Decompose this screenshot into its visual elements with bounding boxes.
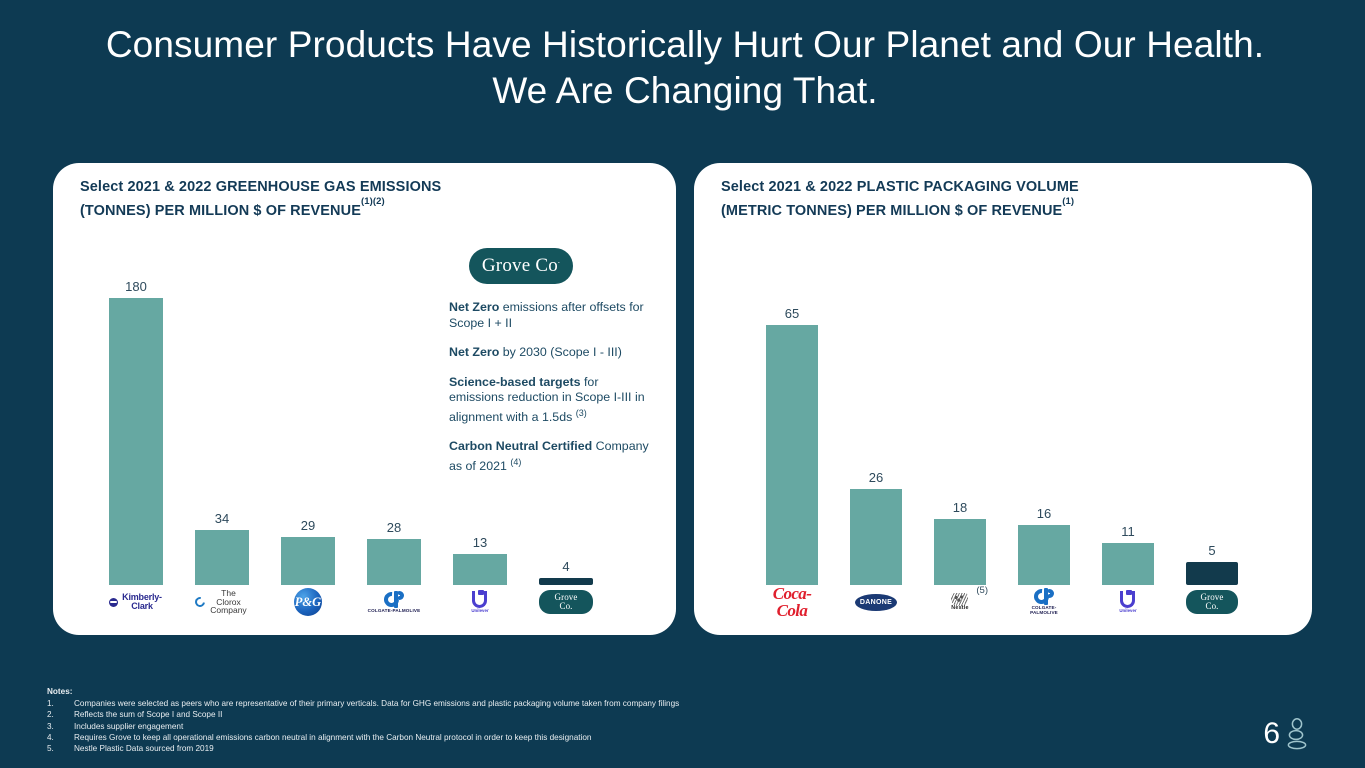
bar: [539, 578, 593, 585]
note-text: Nestle Plastic Data sourced from 2019: [74, 743, 214, 754]
unilever-mark: [472, 591, 487, 608]
commitment-footnote: (3): [576, 408, 587, 418]
bar-group: 11Unilever: [1102, 173, 1154, 613]
nestle-logo: Nestle: [951, 593, 968, 611]
clorox-mark: [193, 595, 207, 609]
colgate-palmolive-logo: COLGATE-PALMOLIVE: [368, 591, 421, 614]
bar-value-label: 13: [453, 535, 507, 550]
commitment-label: Carbon Neutral Certified: [449, 439, 592, 453]
bar-category-logo: Unilever: [453, 589, 507, 615]
danone-logo: DANONE: [855, 594, 897, 611]
grove-commitments-list: Net Zero emissions after offsets for Sco…: [449, 300, 654, 474]
bar-category-logo: COLGATE-PALMOLIVE: [367, 589, 421, 615]
note-text: Includes supplier engagement: [74, 721, 183, 732]
bar-value-label: 5: [1186, 543, 1238, 558]
commitment-item: Net Zero by 2030 (Scope I - III): [449, 345, 654, 361]
commitment-label: Science-based targets: [449, 375, 581, 389]
commitment-item: Science-based targets for emissions redu…: [449, 375, 654, 426]
unilever-logo: Unilever: [471, 591, 488, 613]
nestle-mark: [951, 593, 968, 606]
bar-category-logo: P&G: [281, 589, 335, 615]
bar-group: 34The Clorox Company: [195, 173, 249, 613]
bar-category-logo: COLGATE-PALMOLIVE: [1018, 589, 1070, 615]
commitment-footnote: (4): [510, 457, 521, 467]
coca-cola-logo: Coca-Cola: [766, 585, 818, 619]
notes-block: Notes: 1.Companies were selected as peer…: [47, 686, 947, 754]
commitment-text: by 2030 (Scope I - III): [499, 345, 622, 359]
bar-value-label: 34: [195, 511, 249, 526]
note-number: 3.: [47, 721, 74, 732]
bar: [850, 489, 902, 585]
bar: [934, 519, 986, 585]
bar-group: 16COLGATE-PALMOLIVE: [1018, 173, 1070, 613]
bar-group: 28COLGATE-PALMOLIVE: [367, 173, 421, 613]
bar-category-logo: DANONE: [850, 589, 902, 615]
plastic-packaging-chart: 65Coca-Cola26DANONE18(5)Nestle16COLGATE-…: [694, 173, 1312, 613]
colgate-palmolive-logo: COLGATE-PALMOLIVE: [1018, 588, 1070, 615]
kimberly-clark-mark: [109, 598, 118, 607]
pg-logo: P&G: [294, 588, 322, 616]
note-item: 2.Reflects the sum of Scope I and Scope …: [47, 709, 947, 720]
bar-group: 29P&G: [281, 173, 335, 613]
bar: [1018, 525, 1070, 585]
bar-group: 18(5)Nestle: [934, 173, 986, 613]
bar: [195, 530, 249, 585]
bar: [367, 539, 421, 585]
grove-co-logo-badge: Grove Co.: [469, 248, 573, 284]
colgate-palmolive-mark: [384, 591, 405, 608]
bar-value-label: 65: [766, 306, 818, 321]
note-text: Reflects the sum of Scope I and Scope II: [74, 709, 222, 720]
clorox-logo: The Clorox Company: [195, 589, 249, 615]
bar-group: 5Grove Co.: [1186, 173, 1238, 613]
note-number: 1.: [47, 698, 74, 709]
bar-group: 65Coca-Cola: [766, 173, 818, 613]
note-number: 2.: [47, 709, 74, 720]
notes-list: 1.Companies were selected as peers who a…: [47, 698, 947, 754]
bar-value-label: 28: [367, 520, 421, 535]
page-number: 6: [1263, 719, 1280, 749]
grove-stones-icon: [1286, 717, 1308, 751]
bar-category-logo: The Clorox Company: [195, 589, 249, 615]
commitment-item: Carbon Neutral Certified Company as of 2…: [449, 439, 654, 474]
bar-value-label: 29: [281, 518, 335, 533]
bar-category-logo: Nestle: [934, 589, 986, 615]
bar: [109, 298, 163, 585]
slide: Consumer Products Have Historically Hurt…: [0, 0, 1365, 768]
bar-value-label: 11: [1102, 524, 1154, 539]
grove-co-logo: Grove Co.: [1186, 590, 1238, 615]
bar-group: 26DANONE: [850, 173, 902, 613]
bar: [281, 537, 335, 585]
commitment-label: Net Zero: [449, 300, 499, 314]
commitment-item: Net Zero emissions after offsets for Sco…: [449, 300, 654, 331]
colgate-palmolive-mark: [1034, 588, 1055, 605]
bar-category-logo: Grove Co.: [539, 589, 593, 615]
note-item: 3.Includes supplier engagement: [47, 721, 947, 732]
page-title: Consumer Products Have Historically Hurt…: [100, 22, 1270, 114]
note-text: Companies were selected as peers who are…: [74, 698, 679, 709]
note-number: 4.: [47, 732, 74, 743]
bar: [453, 554, 507, 585]
unilever-logo: Unilever: [1119, 591, 1136, 613]
page-number-block: 6: [1263, 717, 1308, 751]
bar-value-label: 4: [539, 559, 593, 574]
plastic-packaging-card: Select 2021 & 2022 PLASTIC PACKAGING VOL…: [694, 163, 1312, 635]
kimberly-clark-logo: Kimberly-Clark: [109, 593, 163, 611]
bar: [766, 325, 818, 585]
note-item: 4.Requires Grove to keep all operational…: [47, 732, 947, 743]
bar-category-logo: Coca-Cola: [766, 589, 818, 615]
note-text: Requires Grove to keep all operational e…: [74, 732, 591, 743]
grove-co-logo: Grove Co.: [539, 590, 593, 615]
note-number: 5.: [47, 743, 74, 754]
commitment-label: Net Zero: [449, 345, 499, 359]
notes-heading: Notes:: [47, 686, 947, 697]
bar-value-label: 180: [109, 279, 163, 294]
bar-group: 180Kimberly-Clark: [109, 173, 163, 613]
grove-badge-tm: .: [558, 256, 560, 265]
bar-value-label: 18: [934, 500, 986, 515]
bar-category-logo: Kimberly-Clark: [109, 589, 163, 615]
note-item: 5.Nestle Plastic Data sourced from 2019: [47, 743, 947, 754]
bar-category-logo: Grove Co.: [1186, 589, 1238, 615]
note-item: 1.Companies were selected as peers who a…: [47, 698, 947, 709]
bar: [1102, 543, 1154, 585]
unilever-mark: [1120, 591, 1135, 608]
bar-value-label: 26: [850, 470, 902, 485]
bar-value-label: 16: [1018, 506, 1070, 521]
bar-category-logo: Unilever: [1102, 589, 1154, 615]
bar: [1186, 562, 1238, 585]
grove-badge-text: Grove Co: [482, 255, 558, 277]
